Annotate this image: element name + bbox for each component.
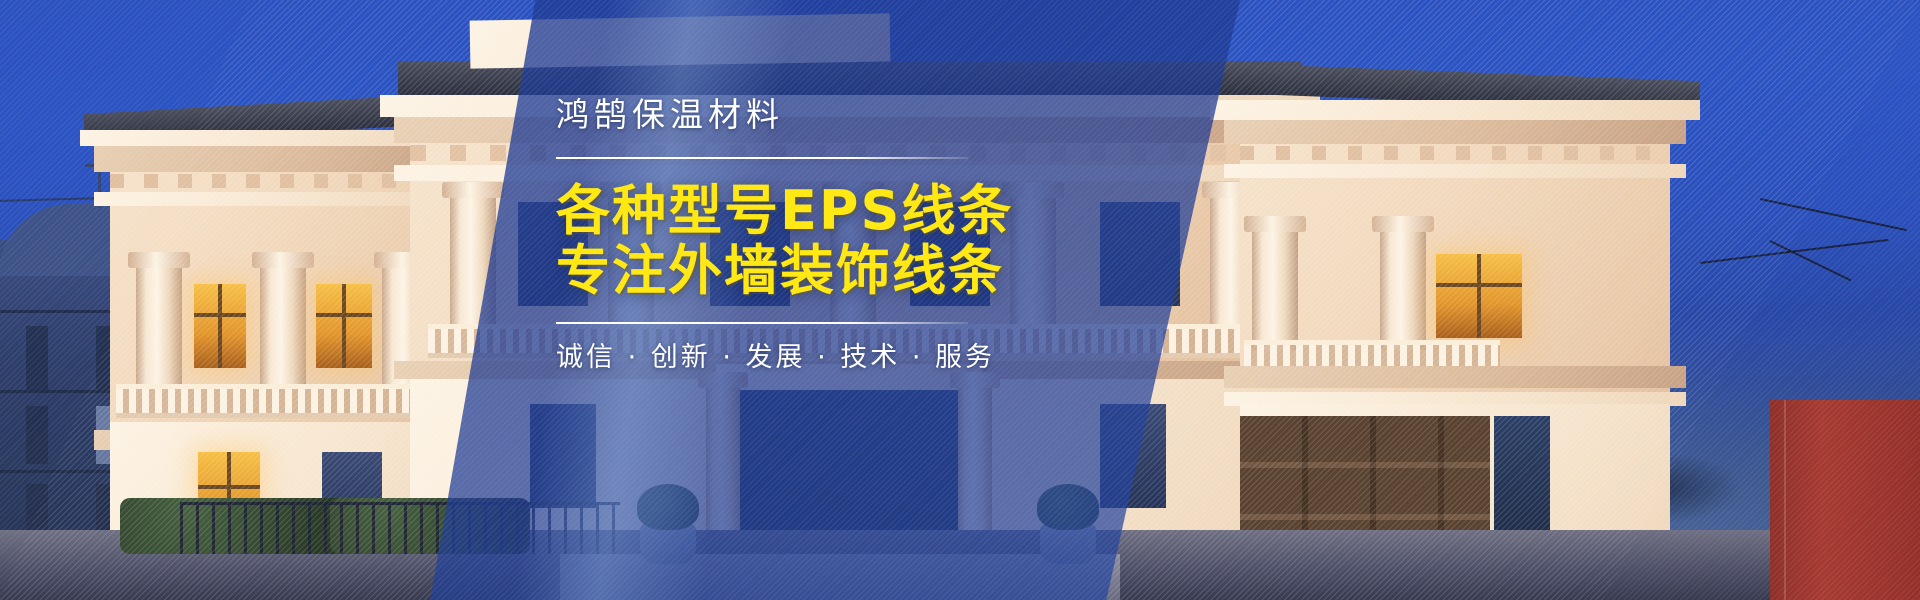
tagline: 诚信 · 创新 · 发展 · 技术 · 服务 [556,344,1026,371]
divider-bottom [556,322,968,324]
banner-hero: 鸿鹄保温材料 各种型号EPS线条 专注外墙装饰线条 诚信 · 创新 · 发展 ·… [0,0,1920,600]
red-wall [1770,400,1920,600]
banner-content: 鸿鹄保温材料 各种型号EPS线条 专注外墙装饰线条 诚信 · 创新 · 发展 ·… [556,98,1026,371]
divider-top [556,157,968,159]
headline-line-1: 各种型号EPS线条 [556,181,1026,241]
brand-name: 鸿鹄保温材料 [556,98,1026,131]
headline-line-2: 专注外墙装饰线条 [556,241,1026,301]
